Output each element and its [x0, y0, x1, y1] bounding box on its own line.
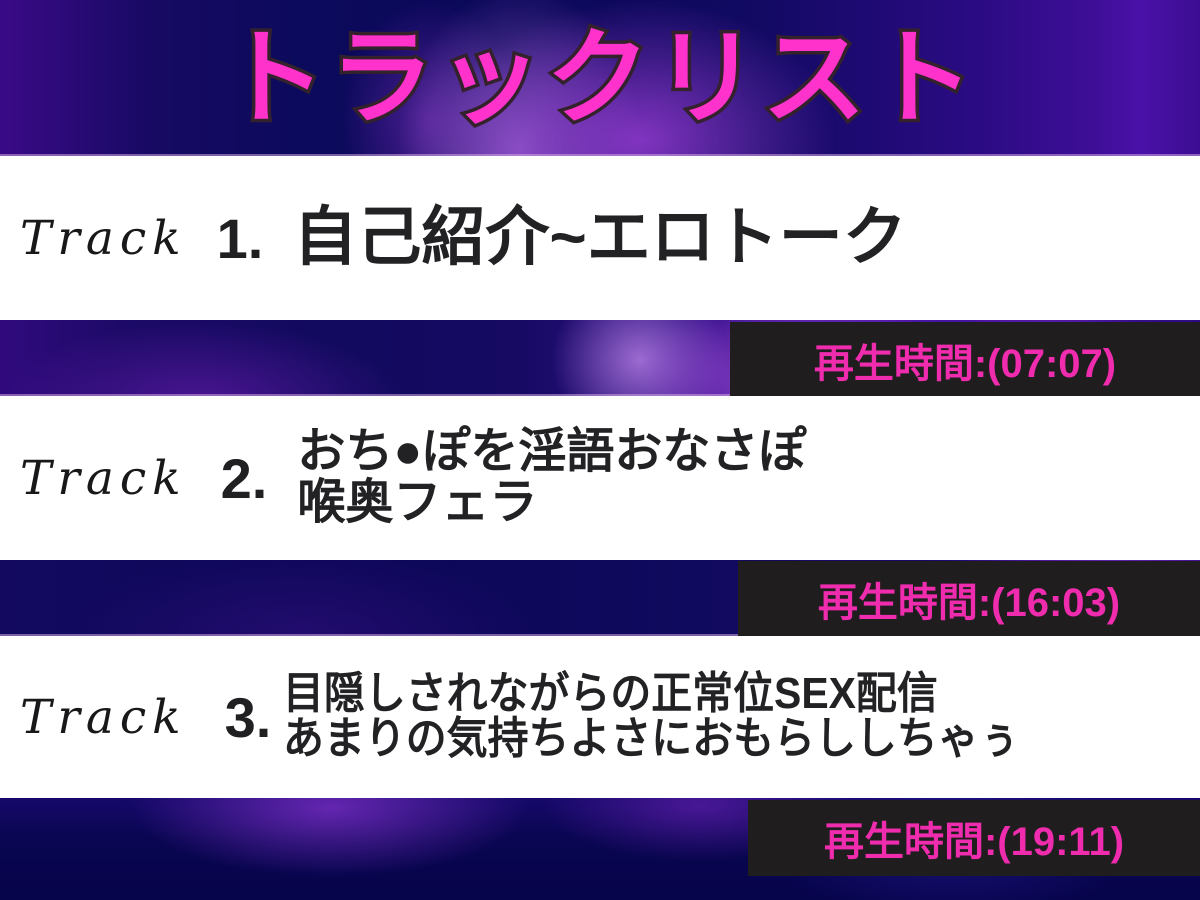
- track-number: 3.: [225, 685, 272, 750]
- track-label: Track: [20, 690, 187, 745]
- track-title-line: 喉奥フェラ: [297, 478, 806, 529]
- duration-text: 再生時間:(19:11): [824, 809, 1124, 867]
- track-row: Track 1. 自己紹介~エロトーク: [0, 156, 1200, 320]
- track-title-line: おち●ぽを淫語おなさぽ: [297, 427, 806, 478]
- duration-badge: 再生時間:(19:11): [748, 800, 1200, 876]
- page-title: トラックリスト: [0, 22, 1200, 134]
- track-row: Track 2. おち●ぽを淫語おなさぽ 喉奥フェラ: [0, 396, 1200, 560]
- duration-badge: 再生時間:(16:03): [738, 561, 1200, 637]
- track-title: 自己紹介~エロトーク: [293, 205, 906, 270]
- track-title-line: あまりの気持ちよさにおもらししちゃぅ: [283, 717, 1020, 762]
- track-label: Track: [20, 451, 187, 506]
- track-title-line: 自己紹介~エロトーク: [293, 205, 906, 270]
- track-title: 目隠しされながらの正常位SEX配信 あまりの気持ちよさにおもらししちゃぅ: [283, 672, 1020, 762]
- tracklist-poster: トラックリスト Track 1. 自己紹介~エロトーク 再生時間:(07:07)…: [0, 0, 1200, 900]
- track-label: Track: [20, 211, 187, 266]
- track-row: Track 3. 目隠しされながらの正常位SEX配信 あまりの気持ちよさにおもら…: [0, 636, 1200, 798]
- track-number: 1.: [217, 206, 264, 271]
- track-title: おち●ぽを淫語おなさぽ 喉奥フェラ: [297, 427, 806, 529]
- duration-text: 再生時間:(16:03): [818, 570, 1120, 628]
- track-title-line: 目隠しされながらの正常位SEX配信: [283, 672, 1020, 717]
- track-number: 2.: [221, 446, 268, 511]
- duration-text: 再生時間:(07:07): [814, 331, 1116, 389]
- duration-badge: 再生時間:(07:07): [730, 322, 1200, 398]
